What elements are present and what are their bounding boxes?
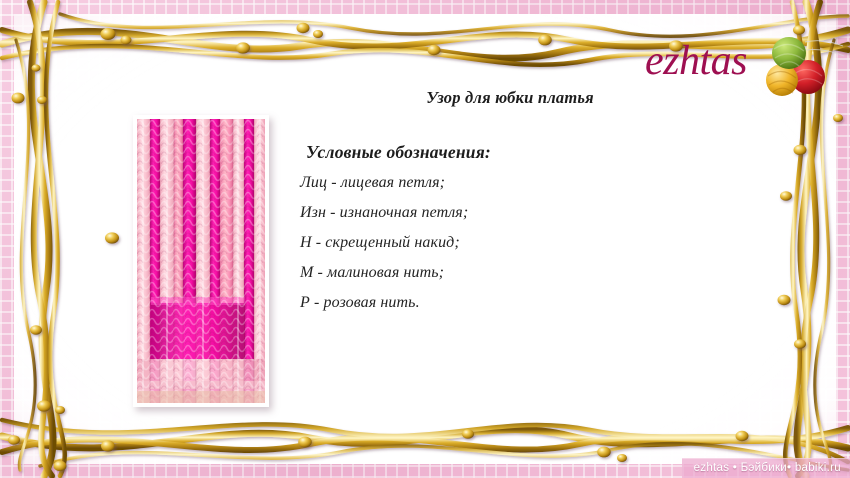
site-logo[interactable]: ezhtas: [645, 38, 845, 100]
yarn-balls-icon: [753, 32, 845, 100]
legend-block: Условные обозначения: Лиц - лицевая петл…: [300, 142, 720, 323]
legend-item-n: Н - скрещенный накид;: [300, 232, 720, 253]
knitting-swatch-photo: [133, 115, 269, 407]
page-canvas: Узор для юбки платья Условные обозначени…: [0, 0, 850, 478]
legend-item-r: Р - розовая нить.: [300, 292, 720, 313]
logo-wordmark: ezhtas: [645, 40, 747, 82]
legend-item-m: М - малиновая нить;: [300, 262, 720, 283]
watermark-bar: ezhtas • Бэйбики• babiki.ru: [682, 458, 850, 478]
legend-heading: Условные обозначения:: [306, 142, 720, 163]
knit-pattern-illustration: [137, 119, 265, 403]
legend-item-izn: Изн - изнаночная петля;: [300, 202, 720, 223]
legend-item-lic: Лиц - лицевая петля;: [300, 172, 720, 193]
watermark-text: ezhtas • Бэйбики• babiki.ru: [694, 462, 841, 474]
